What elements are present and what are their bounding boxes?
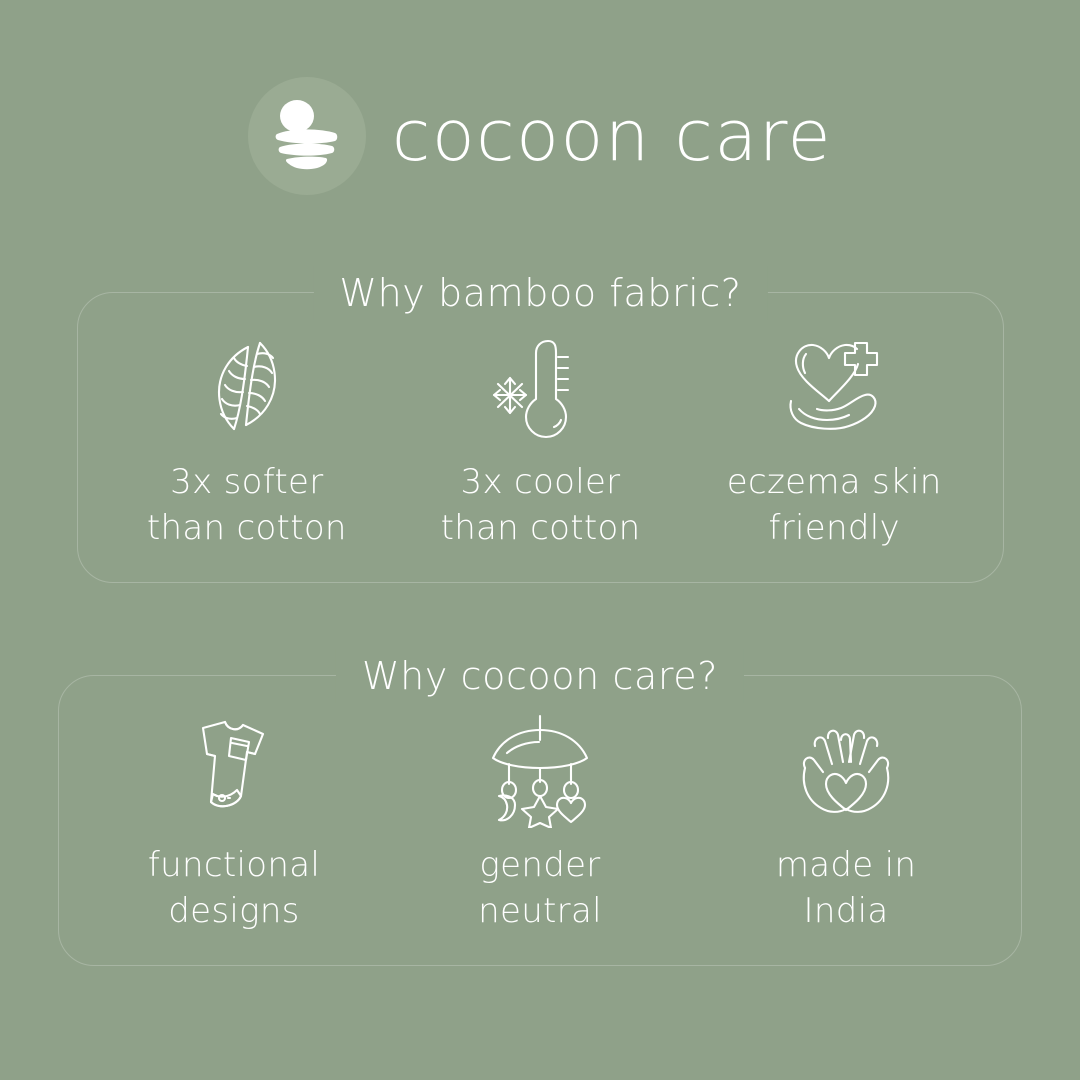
feature-item: gender neutral — [387, 710, 693, 934]
feature-label: 3x softer than cotton — [147, 459, 347, 551]
section-why-cocoon-care: Why cocoon care? — [58, 675, 1022, 966]
crib-mobile-icon — [481, 710, 599, 828]
feature-label: functional designs — [148, 842, 320, 934]
brand-header: cocoon care — [0, 72, 1080, 200]
feature-list: 3x softer than cotton — [78, 293, 1003, 582]
hands-heart-icon — [787, 710, 905, 828]
section-why-bamboo-fabric: Why bamboo fabric? — [77, 292, 1004, 583]
feature-label: 3x cooler than cotton — [441, 459, 641, 551]
baby-onesie-icon — [175, 710, 293, 828]
cocoon-logo-icon — [248, 77, 366, 195]
feathers-icon — [188, 327, 306, 445]
feature-item: eczema skin friendly — [687, 327, 981, 551]
feature-list: functional designs — [59, 676, 1021, 965]
brand-name: cocoon care — [392, 101, 832, 171]
feature-label: eczema skin friendly — [727, 459, 942, 551]
feature-item: functional designs — [81, 710, 387, 934]
feature-item: 3x softer than cotton — [100, 327, 394, 551]
thermometer-snowflake-icon — [482, 327, 600, 445]
feature-label: gender neutral — [478, 842, 602, 934]
heart-hand-medical-icon — [775, 327, 893, 445]
feature-item: made in India — [693, 710, 999, 934]
feature-item: 3x cooler than cotton — [394, 327, 688, 551]
feature-label: made in India — [776, 842, 916, 934]
